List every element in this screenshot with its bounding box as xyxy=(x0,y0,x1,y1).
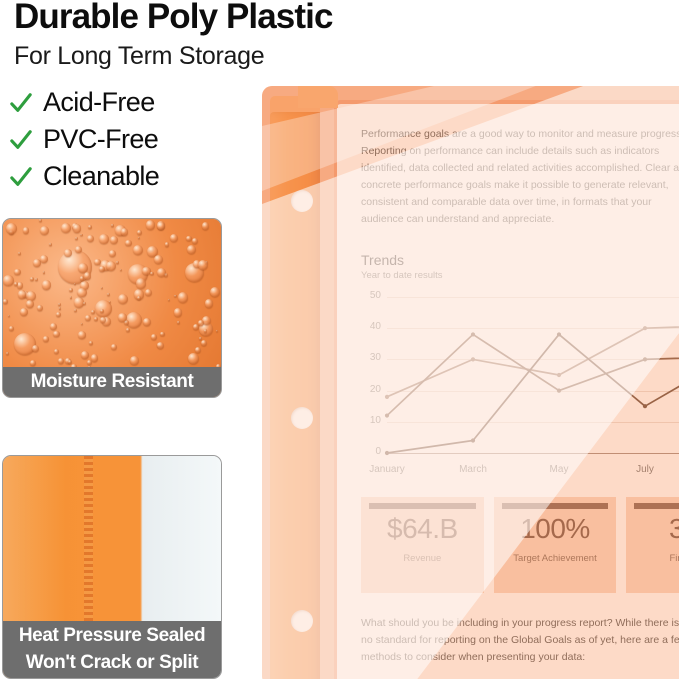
stat-label: Revenue xyxy=(361,553,484,564)
water-droplet xyxy=(18,290,27,299)
water-droplet xyxy=(133,245,144,256)
chart-data-point xyxy=(385,395,389,399)
water-droplet xyxy=(20,308,28,316)
water-droplet xyxy=(116,261,119,264)
water-droplet xyxy=(14,269,20,275)
water-droplet xyxy=(6,223,17,234)
water-droplet xyxy=(187,245,196,254)
chart-data-point xyxy=(643,357,647,361)
water-droplet xyxy=(30,277,34,281)
water-droplet xyxy=(210,287,220,297)
thumb-notch xyxy=(298,86,338,108)
chart-line xyxy=(387,325,679,397)
chart-data-point xyxy=(471,438,475,442)
water-droplet xyxy=(125,240,131,246)
water-droplet xyxy=(101,287,104,290)
check-icon xyxy=(10,92,32,114)
chart-line xyxy=(387,334,679,453)
chart-series-layer xyxy=(361,291,679,481)
water-droplet xyxy=(106,261,116,271)
intro-paragraph: Performance goals are a good way to moni… xyxy=(361,126,679,228)
water-droplet xyxy=(192,238,198,244)
water-droplet xyxy=(170,234,178,242)
water-droplet xyxy=(157,342,164,349)
water-droplet xyxy=(91,310,95,314)
water-droplet xyxy=(58,358,64,364)
water-droplet xyxy=(87,235,94,242)
water-droplet xyxy=(204,329,207,332)
stat-card: 100% Target Achievement xyxy=(494,497,617,593)
stat-card: 3,5 First Tim xyxy=(626,497,679,593)
chart-data-point xyxy=(557,389,561,393)
water-droplet xyxy=(151,334,157,340)
water-droplet xyxy=(43,271,45,273)
punch-hole xyxy=(291,610,313,632)
water-droplet xyxy=(120,269,122,271)
water-droplet xyxy=(39,219,42,222)
section-subtitle: Year to date results xyxy=(361,270,679,281)
water-droplet xyxy=(198,320,204,326)
water-droplet xyxy=(6,352,9,355)
water-droplet xyxy=(205,299,214,308)
chart-data-point xyxy=(643,326,647,330)
chart-data-point xyxy=(557,332,561,336)
water-droplet xyxy=(178,292,189,303)
chart-line xyxy=(387,334,679,415)
water-droplet xyxy=(121,228,129,236)
water-droplet xyxy=(177,321,181,325)
water-droplet xyxy=(138,237,140,239)
water-droplet xyxy=(126,328,130,332)
water-droplet xyxy=(68,360,72,364)
water-droplet xyxy=(69,288,73,292)
water-droplet xyxy=(37,305,43,311)
page-title: Durable Poly Plastic xyxy=(14,0,434,36)
water-droplet xyxy=(198,260,209,271)
water-droplet xyxy=(42,280,51,289)
chart-data-point xyxy=(643,404,647,408)
water-droplet xyxy=(174,308,183,317)
stat-label: First Tim xyxy=(626,553,679,564)
photo-caption: Moisture Resistant xyxy=(3,367,221,397)
feature-label: PVC-Free xyxy=(43,126,158,153)
water-droplet xyxy=(84,272,92,280)
water-droplet xyxy=(160,332,164,336)
water-droplet xyxy=(43,336,49,342)
water-droplet xyxy=(40,226,49,235)
product-marketing-image: Durable Poly Plastic For Long Term Stora… xyxy=(0,0,679,679)
water-droplet xyxy=(150,272,154,276)
water-droplet xyxy=(78,331,85,338)
water-droplet xyxy=(110,236,118,244)
water-droplet xyxy=(111,344,117,350)
water-droplet xyxy=(99,266,105,272)
section-title: Trends xyxy=(361,252,679,268)
list-item: PVC-Free xyxy=(10,121,260,158)
water-droplet xyxy=(130,356,139,365)
headline-block: Durable Poly Plastic For Long Term Stora… xyxy=(14,0,434,71)
water-droplet xyxy=(35,278,38,281)
list-item: Acid-Free xyxy=(10,84,260,121)
water-droplet xyxy=(32,345,39,352)
check-icon xyxy=(10,166,32,188)
water-droplet xyxy=(168,299,170,301)
water-droplet xyxy=(216,330,218,332)
water-droplet xyxy=(80,234,83,237)
water-droplet xyxy=(83,302,85,304)
punch-hole xyxy=(291,190,313,212)
water-droplet xyxy=(56,312,61,317)
water-droplet xyxy=(165,242,169,246)
water-droplet xyxy=(88,225,92,229)
water-droplet xyxy=(61,223,71,233)
stat-value: 3,5 xyxy=(626,511,679,547)
water-droplet xyxy=(118,313,127,322)
water-droplet xyxy=(81,323,83,325)
trends-line-chart: 01020304050JanuaryMarchMayJuly xyxy=(361,291,679,481)
water-droplet xyxy=(202,222,209,229)
water-droplet xyxy=(107,293,110,296)
water-droplet xyxy=(111,224,114,227)
document-page: Performance goals are a good way to moni… xyxy=(334,100,679,679)
water-droplet xyxy=(89,341,93,345)
water-droplet xyxy=(18,252,21,255)
water-droplet xyxy=(174,295,176,297)
water-droplet xyxy=(30,360,36,366)
water-droplet xyxy=(59,307,62,310)
water-droplet xyxy=(53,331,59,337)
stat-value: 100% xyxy=(494,511,617,547)
feature-photo-moisture: Moisture Resistant xyxy=(2,218,222,398)
water-droplet xyxy=(3,275,14,286)
water-droplet xyxy=(157,222,165,230)
check-icon xyxy=(10,129,32,151)
water-droplet xyxy=(136,278,147,289)
water-droplet xyxy=(195,347,201,353)
feature-list: Acid-Free PVC-Free Cleanable xyxy=(10,84,260,195)
water-droplet xyxy=(23,227,29,233)
water-droplet xyxy=(58,303,61,306)
water-droplet xyxy=(145,289,152,296)
water-droplet xyxy=(70,296,73,299)
sheet-protector: Performance goals are a good way to moni… xyxy=(262,86,679,679)
water-droplet xyxy=(73,224,82,233)
stat-value: $64.B xyxy=(361,511,484,547)
water-droplet xyxy=(49,243,52,246)
chart-data-point xyxy=(471,332,475,336)
water-droplet xyxy=(109,301,111,303)
water-droplet xyxy=(77,288,86,297)
protector-spine xyxy=(270,112,320,679)
chart-data-point xyxy=(557,373,561,377)
chart-data-point xyxy=(385,413,389,417)
water-droplet xyxy=(54,349,59,354)
water-droplet xyxy=(201,340,207,346)
card-accent-bar xyxy=(502,503,609,509)
punch-hole xyxy=(291,407,313,429)
water-droplet xyxy=(50,323,57,330)
chart-data-point xyxy=(385,451,389,455)
stat-label: Target Achievement xyxy=(494,553,617,564)
water-droplet xyxy=(40,255,48,263)
water-droplet xyxy=(85,315,91,321)
water-droplet xyxy=(99,234,109,244)
water-droplet xyxy=(143,318,152,327)
stat-card-row: $64.B Revenue 100% Target Achievement 3,… xyxy=(361,497,679,593)
list-item: Cleanable xyxy=(10,158,260,195)
feature-label: Acid-Free xyxy=(43,89,155,116)
photo-caption-line2: Won't Crack or Split xyxy=(3,649,221,676)
water-droplet xyxy=(87,360,93,366)
water-droplet xyxy=(26,300,35,309)
document-content: Performance goals are a good way to moni… xyxy=(337,104,679,679)
water-droplet xyxy=(75,237,78,240)
card-accent-bar xyxy=(634,503,679,509)
water-droplet xyxy=(3,299,8,304)
photo-caption-line1: Heat Pressure Sealed xyxy=(3,622,221,649)
water-droplet xyxy=(9,326,14,331)
water-droplet xyxy=(74,283,76,285)
water-droplet xyxy=(186,236,192,242)
water-droplet xyxy=(118,294,128,304)
water-droplet xyxy=(154,255,163,264)
water-droplet xyxy=(109,250,116,257)
photo-caption: Heat Pressure Sealed Won't Crack or Spli… xyxy=(3,621,221,678)
water-droplet xyxy=(74,309,77,312)
water-droplet xyxy=(146,220,156,230)
chart-data-point xyxy=(471,357,475,361)
body-paragraph: What should you be including in your pro… xyxy=(361,615,679,666)
water-droplet xyxy=(188,353,199,364)
water-droplet xyxy=(94,317,98,321)
card-accent-bar xyxy=(369,503,476,509)
water-droplet xyxy=(81,351,89,359)
water-droplet xyxy=(137,230,142,235)
page-subtitle: For Long Term Storage xyxy=(14,42,434,71)
feature-photo-sealed-edge: Heat Pressure Sealed Won't Crack or Spli… xyxy=(2,455,222,679)
feature-label: Cleanable xyxy=(43,163,159,190)
stat-card: $64.B Revenue xyxy=(361,497,484,593)
water-droplet xyxy=(8,315,11,318)
